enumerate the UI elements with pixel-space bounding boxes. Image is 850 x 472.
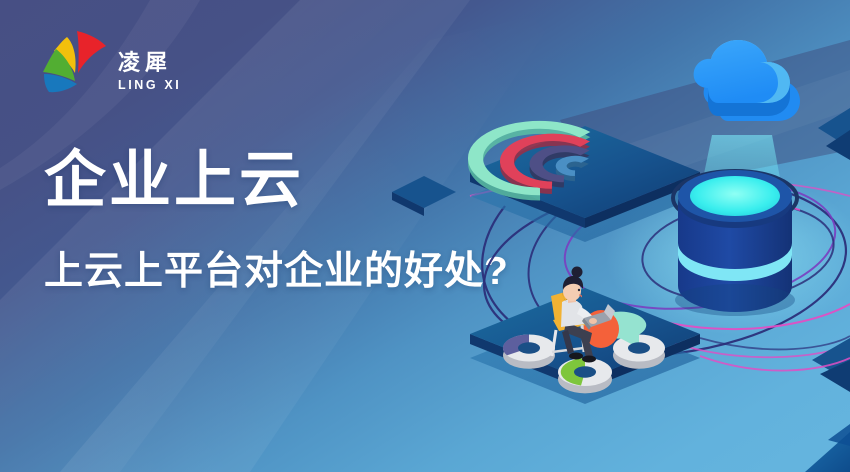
donut-purple-hole	[518, 342, 540, 353]
cloud-icon	[694, 40, 800, 121]
banner-root: 凌犀 LING XI 企业上云 上云上平台对企业的好处?	[0, 0, 850, 472]
person-eye	[578, 289, 580, 291]
isometric-cloud-computing-scene	[0, 0, 850, 472]
database-cylinder	[673, 170, 797, 316]
cylinder-glow-top	[690, 176, 780, 216]
person-shoe-back	[569, 353, 583, 360]
person-hand	[589, 318, 597, 324]
cylinder-ground-shadow	[675, 284, 795, 316]
donut-chart-purple	[503, 334, 555, 368]
orbit-ring-navy-foreground	[700, 336, 850, 349]
side-platform-chip-left	[392, 176, 456, 216]
person-shoe-front	[582, 356, 596, 363]
donut-green-hole	[574, 366, 596, 377]
donut-mint-hole	[628, 342, 650, 353]
donut-chart-green	[558, 358, 612, 393]
person-hair-bun	[572, 267, 583, 278]
